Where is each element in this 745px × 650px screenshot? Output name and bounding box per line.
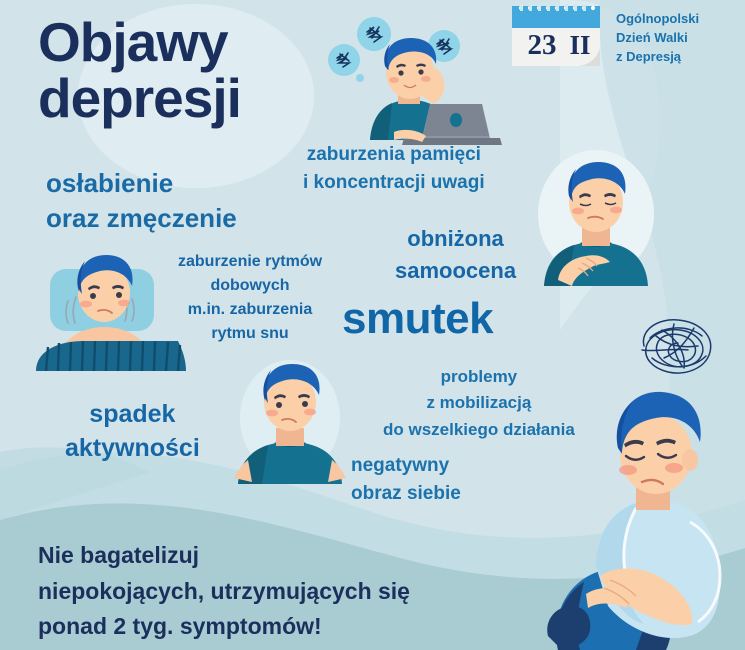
symptom-samoocena: obniżona samoocena [395,223,516,287]
tangled-scribble-icon [632,312,722,380]
calendar-day: 23 [528,29,557,61]
person-in-bed-illustration [28,243,190,371]
symptom-spadek: spadek aktywności [65,398,200,466]
symptom-smutek: smutek [342,297,493,341]
standing-person-illustration [226,356,354,484]
seated-person-hugging-knees-illustration [540,380,745,650]
person-hand-on-chest-illustration [524,148,679,288]
person-at-laptop-illustration [322,8,502,148]
symptom-oslabienie: osłabienie oraz zmęczenie [46,166,237,236]
page-title: Objawy depresji [38,14,241,126]
footer-message: Nie bagatelizuj niepokojących, utrzymują… [38,538,410,645]
infographic-poster: Objawy depresji osłabienie oraz zmęczeni… [0,0,745,650]
calendar-icon: 23 II [508,2,604,68]
calendar-caption: Ogólnopolski Dzień Walki z Depresją [616,10,699,67]
symptom-pamiec: zaburzenia pamięci i koncentracji uwagi [303,141,485,196]
symptom-negatywny: negatywny obraz siebie [351,452,461,507]
calendar-badge: 23 II Ogólnopolski Dzień Walki z Depresj… [508,2,740,74]
symptom-rytmy: zaburzenie rytmów dobowych m.in. zaburze… [178,250,322,346]
calendar-month: II [569,30,590,60]
